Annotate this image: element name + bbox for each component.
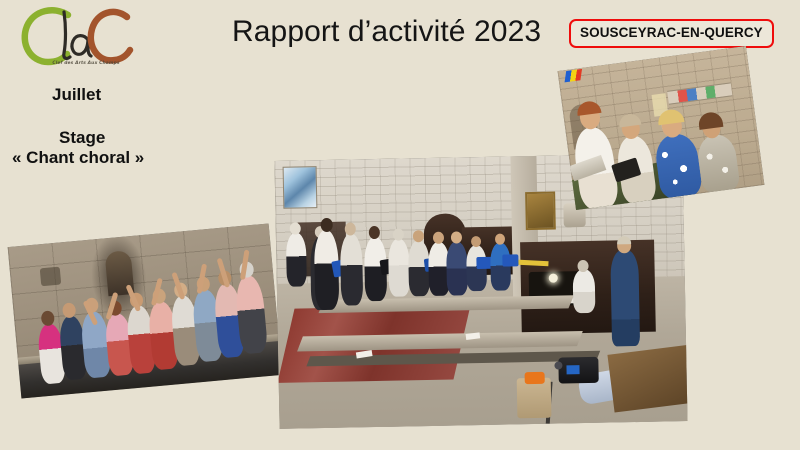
singer-hair	[697, 111, 723, 130]
singer	[696, 132, 741, 195]
caption-month: Juillet	[52, 85, 101, 105]
singer	[446, 241, 468, 295]
clac-logo: Clef des Arts Aux Champs	[14, 4, 139, 76]
wall-painting	[525, 192, 556, 231]
singer	[490, 242, 511, 290]
singer	[340, 233, 363, 305]
singer	[388, 238, 410, 296]
wall-stone-detail	[40, 267, 62, 287]
singer	[653, 132, 703, 201]
orange-object	[525, 372, 545, 384]
camera-screen	[566, 365, 579, 374]
wooden-bench	[607, 345, 687, 412]
singer-head	[345, 222, 356, 235]
logo-tagline: Clef des Arts Aux Champs	[36, 61, 136, 66]
singer	[286, 232, 307, 286]
conductor-hair	[617, 236, 631, 244]
stained-glass-window	[283, 166, 318, 209]
photo-scene	[558, 46, 765, 210]
pennant-flag	[565, 69, 583, 82]
song-folder	[502, 254, 518, 266]
location-badge: SOUSCEYRAC-EN-QUERCY	[569, 19, 774, 48]
decorative-banner	[667, 82, 732, 104]
conductor	[610, 250, 640, 347]
pianist	[573, 269, 596, 313]
caption-activity-line1: Stage	[59, 128, 105, 148]
page-title: Rapport d’activité 2023	[232, 15, 541, 49]
photo-group-raised-arms	[8, 223, 283, 398]
photo-scene	[8, 223, 283, 398]
lamp-light	[549, 274, 558, 283]
slide-canvas: Clef des Arts Aux Champs Rapport d’activ…	[0, 0, 800, 450]
singer-head	[321, 218, 333, 232]
caption-activity-line2: « Chant choral »	[12, 148, 144, 168]
singer-head	[471, 236, 481, 247]
photo-four-singers	[558, 46, 765, 210]
